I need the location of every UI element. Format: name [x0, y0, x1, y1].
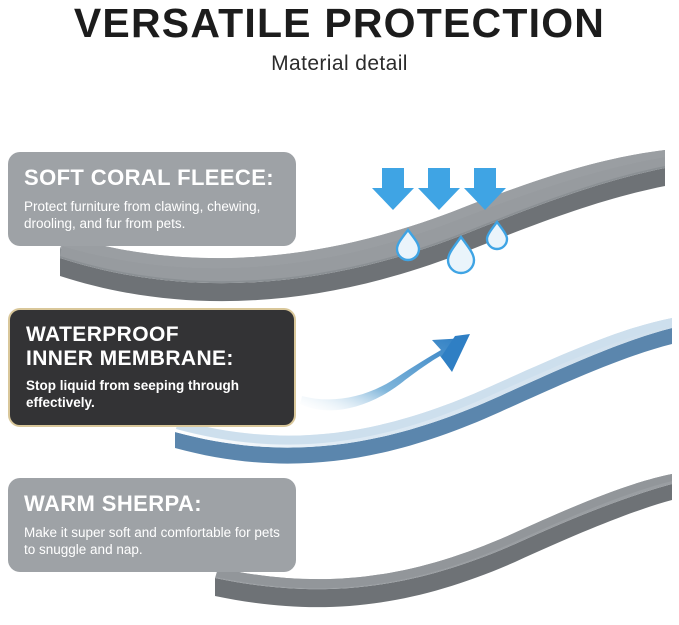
down-arrow-icon-3 [464, 168, 506, 210]
callout-warm-sherpa[interactable]: WARM SHERPA: Make it super soft and comf… [8, 478, 296, 572]
infographic-canvas: VERSATILE PROTECTION Material detail [0, 0, 679, 625]
down-arrow-icon-2 [418, 168, 460, 210]
callout-heading-fleece: SOFT CORAL FLEECE: [24, 166, 280, 191]
callout-body-membrane: Stop liquid from seeping through effecti… [26, 377, 278, 412]
callout-heading-membrane-line1: WATERPROOF [26, 323, 278, 347]
water-droplet-icon-2 [448, 237, 474, 273]
callout-waterproof-inner-membrane[interactable]: WATERPROOF INNER MEMBRANE: Stop liquid f… [8, 308, 296, 427]
water-droplet-icon-1 [397, 230, 419, 260]
callout-body-sherpa: Make it super soft and comfortable for p… [24, 524, 280, 559]
callout-body-fleece: Protect furniture from clawing, chewing,… [24, 198, 280, 233]
callout-heading-membrane-line2: INNER MEMBRANE: [26, 347, 278, 371]
callout-heading-sherpa: WARM SHERPA: [24, 492, 280, 517]
callout-soft-coral-fleece[interactable]: SOFT CORAL FLEECE: Protect furniture fro… [8, 152, 296, 246]
page-title: VERSATILE PROTECTION [0, 2, 679, 45]
up-curved-arrow-icon [300, 334, 470, 410]
down-arrow-icon-1 [372, 168, 414, 210]
water-droplet-icon-3 [487, 222, 507, 249]
page-subtitle: Material detail [0, 52, 679, 76]
